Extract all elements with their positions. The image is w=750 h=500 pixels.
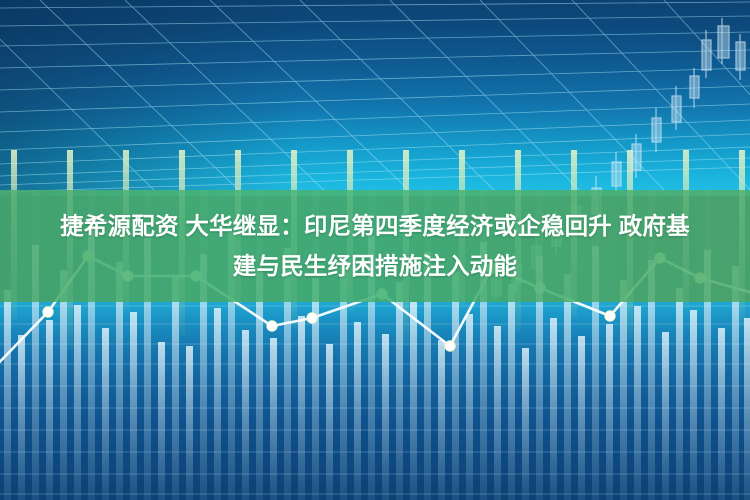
headline-line-2: 建与民生纾困措施注入动能 [233,246,517,286]
headline-text-block: 捷希源配资 大华继显：印尼第四季度经济或企稳回升 政府基 建与民生纾困措施注入动… [0,190,750,302]
financial-banner-image: 捷希源配资 大华继显：印尼第四季度经济或企稳回升 政府基 建与民生纾困措施注入动… [0,0,750,500]
headline-line-1: 捷希源配资 大华继显：印尼第四季度经济或企稳回升 政府基 [60,206,690,246]
